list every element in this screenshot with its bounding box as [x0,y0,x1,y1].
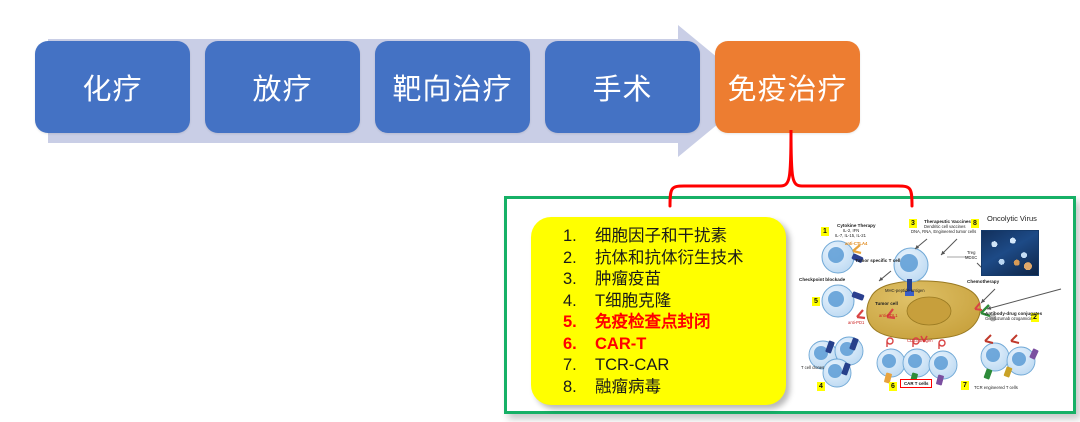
label-t-cell-clones: T cell clones [801,365,824,370]
diagram-badge-6: 6 [889,382,897,391]
label-tumor-specific-t-cell: Tumor specific T cell [855,258,900,263]
label-anti-pdl1: anti-PDL1 [879,313,898,318]
list-item-number: 3. [563,269,595,291]
label-car-t-cells-boxed: CAR T cells [900,379,932,388]
list-item: 8.融瘤病毒 [531,377,786,399]
step-surgery[interactable]: 手术 [545,41,700,133]
diagram-badge-7: 7 [961,381,969,390]
oncolytic-virus-image [981,230,1039,276]
step-label: 靶向治疗 [392,66,512,108]
list-item-highlighted: 6.CAR-T [531,334,786,356]
step-targeted-therapy[interactable]: 靶向治疗 [375,41,530,133]
step-label: 放疗 [252,66,312,108]
label-tumor-cell: Tumor cell [875,301,898,306]
list-item-number: 8. [563,377,595,399]
immunotherapy-list: 1.细胞因子和干扰素 2.抗体和抗体衍生技术 3.肿瘤疫苗 4.T细胞克隆 5.… [531,217,786,405]
list-item-label: 肿瘤疫苗 [595,269,661,291]
diagram-badge-4: 4 [817,382,825,391]
step-chemotherapy[interactable]: 化疗 [35,41,190,133]
list-item-label: T细胞克隆 [595,291,671,313]
list-item-label: 细胞因子和干扰素 [595,226,727,248]
list-item-label: 免疫检查点封闭 [595,312,711,334]
list-item: 1.细胞因子和干扰素 [531,226,786,248]
label-il7-il15-il21: IL-7, IL-15, IL-21 [835,233,866,238]
label-gemtuzumab: Gemtuzumab ozogamicin [985,316,1032,321]
list-item-number: 7. [563,355,595,377]
diagram-badge-5: 5 [812,297,820,306]
diagram-badge-8: 8 [971,219,979,228]
diagram-badge-3: 3 [909,219,917,228]
list-item-label: TCR-CAR [595,355,669,377]
label-dna-rna-engineered: DNA, RNA, Engineered tumor cells [911,229,976,234]
list-item-number: 1. [563,226,595,248]
list-item-number: 6. [563,334,595,356]
label-anti-pd1: anti-PD1 [848,320,864,325]
brace-connector [640,128,940,208]
immunotherapy-diagram: 1 3 8 5 2 4 6 7 Cytokine Therapy IL-2, I… [799,205,1071,409]
list-item: 7.TCR-CAR [531,355,786,377]
label-tcr-engineered-t-cells: TCR engineered T cells [974,385,1018,390]
step-label: 手术 [592,66,652,108]
immunotherapy-panel: 1.细胞因子和干扰素 2.抗体和抗体衍生技术 3.肿瘤疫苗 4.T细胞克隆 5.… [504,196,1076,414]
list-item: 4.T细胞克隆 [531,291,786,313]
list-item-label: 融瘤病毒 [595,377,661,399]
diagram-badge-1: 1 [821,227,829,236]
slide-canvas: 化疗 放疗 靶向治疗 手术 免疫治疗 1.细胞因子和干扰素 2.抗体和抗体衍生技… [0,0,1080,422]
step-label: 免疫治疗 [727,66,847,108]
label-cd33-antigen: CD33 antigen [907,338,933,343]
list-item: 2.抗体和抗体衍生技术 [531,248,786,270]
label-mdsc: MDSC [965,255,977,260]
list-item: 3.肿瘤疫苗 [531,269,786,291]
list-item-number: 2. [563,248,595,270]
label-chemotherapy: Chemotherapy [967,279,999,284]
list-item-highlighted: 5.免疫检查点封闭 [531,312,786,334]
label-oncolytic-virus: Oncolytic Virus [987,216,1037,221]
step-immunotherapy[interactable]: 免疫治疗 [715,41,860,133]
label-mhc-peptide-antigen: MHC-peptide antigen [885,288,925,293]
list-item-label: CAR-T [595,334,646,356]
label-anti-ctla4: anti-CTLA4 [845,241,867,246]
list-item-number: 5. [563,312,595,334]
list-item-label: 抗体和抗体衍生技术 [595,248,744,270]
step-radiotherapy[interactable]: 放疗 [205,41,360,133]
label-checkpoint-blockade: Checkpoint blockade [799,277,845,282]
step-label: 化疗 [82,66,142,108]
list-item-number: 4. [563,291,595,313]
